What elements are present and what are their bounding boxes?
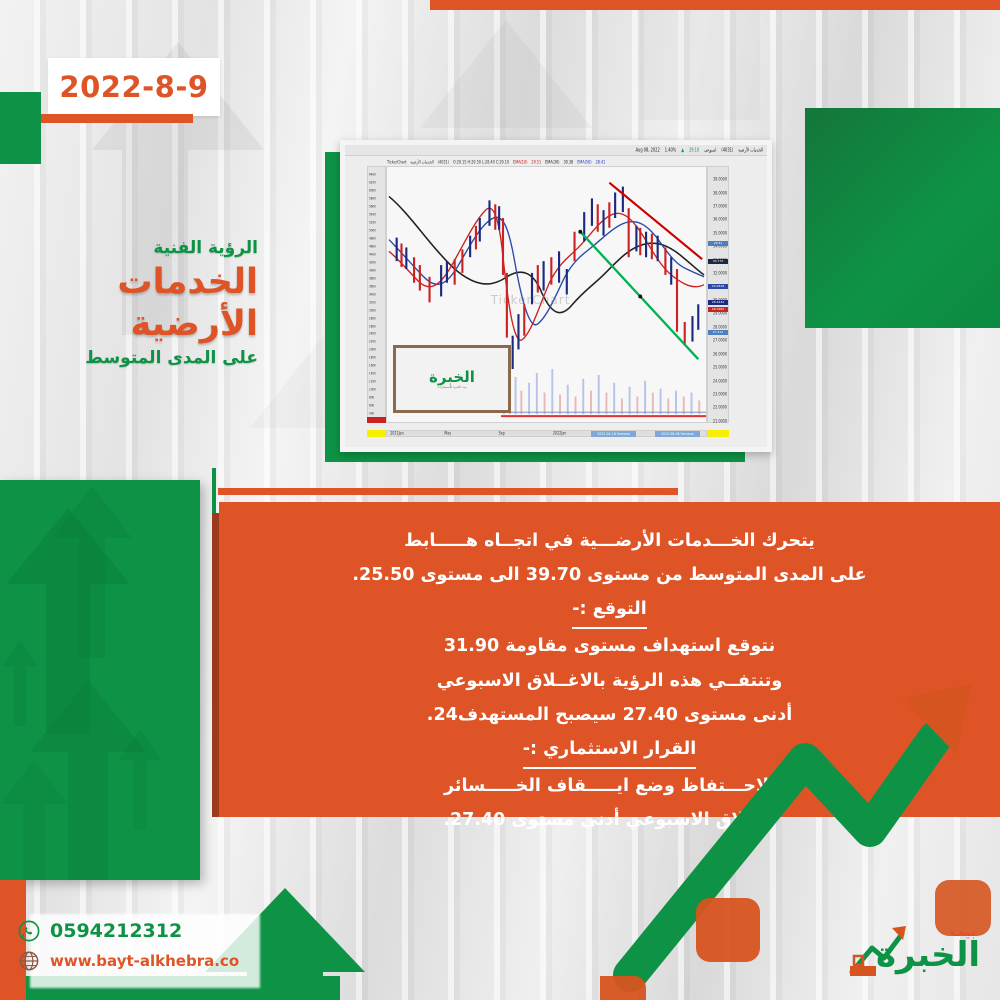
x-tick: 2022Jan [553,430,566,435]
legend-ema10-value: 29.51 [531,159,541,165]
panel-shadow [212,513,219,817]
y-tick-right: 26.0000 [713,351,727,356]
analysis-line-1: يتحرك الخـــدمات الأرضـــية في اتجــاه ه… [279,524,940,558]
chart-bottom-left-tab[interactable] [367,430,386,437]
page-title: الخدمات الأرضية [18,261,258,345]
y-tick-left: 4000 [369,267,376,272]
legend-ema50-value: 28.41 [596,159,606,165]
y-tick-left: 5200 [369,219,376,224]
chart-y-axis-left[interactable]: 6400620060005800560054005200500048004600… [367,166,386,423]
legend-ema30-label: EMA(30) [545,159,559,165]
date-badge: 2022-8-9 [48,58,220,116]
legend-name: الخدمات الأرضية [410,159,433,165]
contact-whatsapp-row[interactable]: 0594212312 [18,920,318,942]
top-accent-strip [430,0,1000,10]
y-tick-left: 5800 [369,195,376,200]
chart-change-value: 29.10 [689,147,699,153]
y-tick-left: 4200 [369,259,376,264]
brand-main-word: الخبرة [876,938,980,972]
x-tick: May [444,430,451,435]
analysis-line-2: على المدى المتوسط من مستوى 39.70 الى مست… [279,558,940,592]
y-tick-left: 1800 [369,355,376,360]
bottom-left-orange-strip-2 [0,880,26,900]
headline-block: الرؤية الفنية الخدمات الأرضية على المدى … [18,238,258,369]
y-tick-left: 3800 [369,275,376,280]
y-tick-left: 800 [369,395,374,400]
panel-top-rule [218,488,678,495]
y-tick-right: 32.0000 [713,270,727,275]
y-tick-left: 3200 [369,299,376,304]
y-tick-left: 3600 [369,283,376,288]
chart-toolbar: الخدمات الأرضية (4031) اسبوعي 29.10 ▲ 1.… [345,145,767,156]
x-tick: 2021Jan [390,430,403,435]
y-tick-right: 24.0000 [713,378,727,383]
legend-ohlc: O:29.15 H:29.50 L:28.40 C:29.10 [453,159,509,165]
legend-source: TickerChart [387,159,406,165]
legend-code: (4031) [438,159,449,165]
globe-icon [18,950,40,972]
watermark-bar-2 [640,0,760,120]
y-price-badge: 28.3265 [708,307,728,312]
chart-symbol: الخدمات الأرضية [738,147,763,153]
chart-up-arrow-icon: ▲ [681,147,684,153]
chart-legend: TickerChart الخدمات الأرضية (4031) O:29.… [387,158,705,165]
chart-period: اسبوعي [704,147,716,153]
y-tick-left: 5000 [369,227,376,232]
y-tick-left: 4600 [369,243,376,248]
legend-ema10-label: EMA(10) [513,159,527,165]
chart-screenshot-card: الخدمات الأرضية (4031) اسبوعي 29.10 ▲ 1.… [340,140,772,452]
y-tick-left: 4400 [369,251,376,256]
y-price-badge: 27.412 [708,330,728,335]
y-tick-left: 3400 [369,291,376,296]
y-tick-left: 6200 [369,179,376,184]
date-green-tab [0,92,41,164]
y-tick-left: 6400 [369,171,376,176]
y-tick-left: 5600 [369,203,376,208]
y-tick-right: 21.0000 [713,418,727,423]
headline-eyebrow: الرؤية الفنية [18,238,258,259]
y-tick-left: 2200 [369,339,376,344]
y-tick-right: 37.0000 [713,203,727,208]
headline-subtitle: على المدى المتوسط [18,347,258,369]
chart-y-axis-right[interactable]: 39.000038.000037.000036.000035.000034.00… [707,166,729,423]
x-tick: Sep [499,430,505,435]
chart-green-backdrop [805,108,1000,328]
chart-change-percent: 1.40% [665,147,676,153]
y-tick-left: 4800 [369,235,376,240]
y-price-badge: 30.775 [708,259,728,264]
y-tick-left: 1000 [369,387,376,392]
brand-logo: بيت الخبرة [842,912,982,986]
y-tick-left: 2800 [369,315,376,320]
x-axis-selection[interactable]: 2022-04-18 Semana [591,431,636,437]
watermark-triangle-2 [420,20,592,128]
y-price-badge: 29.51 [708,241,728,246]
panel-green-edge [212,468,216,516]
y-tick-left: 600 [369,402,374,407]
y-tick-left: 3000 [369,307,376,312]
y-tick-right: 39.0000 [713,176,727,181]
y-tick-left: 2400 [369,331,376,336]
x-axis-selection[interactable]: 2022-08-08 Semana [655,431,700,437]
y-tick-right: 28.0000 [713,324,727,329]
y-tick-right: 36.0000 [713,217,727,222]
y-price-badge: 29.2618 [708,284,728,289]
chart-code: (4031) [721,147,733,153]
chart-watermark: TickerChart [491,293,571,307]
infographic-poster: 2022-8-9 الرؤية الفنية الخدمات الأرضية ع… [0,0,1000,1000]
y-tick-left: 2000 [369,347,376,352]
contact-website-row[interactable]: www.bayt-alkhebra.co [18,950,318,972]
y-price-badge: 28.4444 [708,300,728,305]
chart-bottom-right-tab[interactable] [707,430,729,437]
y-tick-left: 6000 [369,187,376,192]
contact-block: 0594212312 www.bayt-alkhebra.co [18,920,318,980]
y-tick-left: 400 [369,410,374,415]
chart-x-axis[interactable]: 2021JanMaySep2022Jan2022-04-18 Semana202… [386,430,707,437]
y-tick-left: 1400 [369,371,376,376]
y-tick-right: 22.0000 [713,405,727,410]
legend-ema30-value: 30.38 [563,159,573,165]
y-tick-right: 35.0000 [713,230,727,235]
y-tick-left: 1200 [369,379,376,384]
chart-watermark-word: الخبرة [429,370,475,385]
chart-date: Aug 08, 2022 [636,147,660,153]
whatsapp-icon [18,920,40,942]
y-tick-right: 25.0000 [713,364,727,369]
contact-phone: 0594212312 [50,920,182,942]
y-tick-left: 1600 [369,363,376,368]
y-tick-left: 2600 [369,323,376,328]
y-tick-right: 27.0000 [713,338,727,343]
y-tick-right: 38.0000 [713,190,727,195]
arrows-decoration-panel [0,480,200,880]
date-underline [41,114,193,123]
chart-brand-watermark: الخبرة بيت الخبرة للاستشارات [393,345,511,413]
y-tick-left: 5400 [369,211,376,216]
contact-website: www.bayt-alkhebra.co [50,952,239,970]
chart-left-value-badge [367,417,386,423]
date-label: 2022-8-9 [59,70,208,104]
legend-ema50-label: EMA(50) [577,159,591,165]
y-tick-right: 23.0000 [713,391,727,396]
chart-window: الخدمات الأرضية (4031) اسبوعي 29.10 ▲ 1.… [345,145,767,447]
